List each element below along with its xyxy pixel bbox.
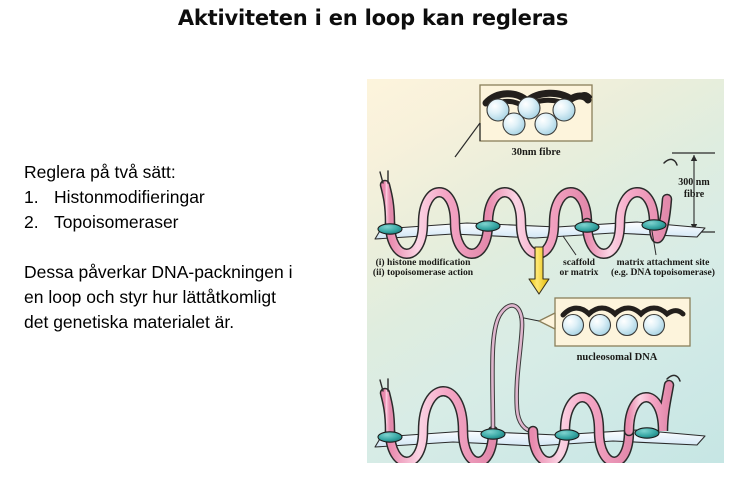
description-line: en loop och styr hur lättåtkomligt	[24, 285, 344, 310]
attachment-site	[575, 222, 599, 232]
matrix-label-line-2: (e.g. DNA topoisomerase)	[611, 267, 715, 278]
transition-annotation: (i) histone modification (ii) topoisomer…	[373, 257, 474, 278]
transition-line-2: (ii) topoisomerase action	[373, 267, 474, 278]
nucleosome-bead	[590, 315, 611, 336]
list-item-label: Histonmodifieringar	[54, 185, 205, 210]
list-item-number: 1.	[24, 185, 54, 210]
inset-30nm-fibre: 30nm fibre	[455, 85, 592, 158]
attachment-site	[635, 428, 659, 438]
list-item: 2. Topoisomeraser	[24, 210, 344, 235]
scale-label-line-1: 300 nm	[678, 177, 710, 188]
attachment-site	[481, 429, 505, 439]
scale-bar-300nm: 300 nm fibre	[672, 153, 715, 232]
nucleosome-bead	[503, 113, 525, 135]
list-item-number: 2.	[24, 210, 54, 235]
inset-30nm-caption: 30nm fibre	[511, 147, 560, 158]
scaffold-label-line-2: or matrix	[560, 267, 599, 278]
inset-nucleosomal-caption: nucleosomal DNA	[577, 352, 658, 363]
nucleosome-bead	[617, 315, 638, 336]
description-line: Dessa påverkar DNA-packningen i	[24, 260, 344, 285]
scale-label-line-2: fibre	[684, 189, 705, 200]
lead-line: Reglera på två sätt:	[24, 160, 344, 185]
nucleosome-bead	[553, 99, 575, 121]
attachment-site	[555, 430, 579, 440]
list-item-label: Topoisomeraser	[54, 210, 179, 235]
list-item: 1. Histonmodifieringar	[24, 185, 344, 210]
inset-nucleosomal-dna: nucleosomal DNA	[519, 298, 690, 363]
chromatin-loop-figure: 30nm fibre 300 nm fibre	[367, 79, 724, 463]
nucleosome-bead	[535, 113, 557, 135]
page-title: Aktiviteten i en loop kan regleras	[0, 6, 746, 30]
numbered-list: 1. Histonmodifieringar 2. Topoisomeraser	[24, 185, 344, 235]
attachment-site	[642, 220, 666, 230]
attachment-site	[378, 432, 402, 442]
nucleosome-bead	[644, 315, 665, 336]
nucleosome-bead	[563, 315, 584, 336]
description-paragraph: Dessa påverkar DNA-packningen i en loop …	[24, 260, 344, 335]
attachment-site	[476, 221, 500, 231]
attachment-site	[378, 224, 402, 234]
body-text-block: Reglera på två sätt: 1. Histonmodifierin…	[24, 160, 344, 335]
chromatin-loops-top	[380, 159, 677, 253]
description-line: det genetiska materialet är.	[24, 310, 344, 335]
